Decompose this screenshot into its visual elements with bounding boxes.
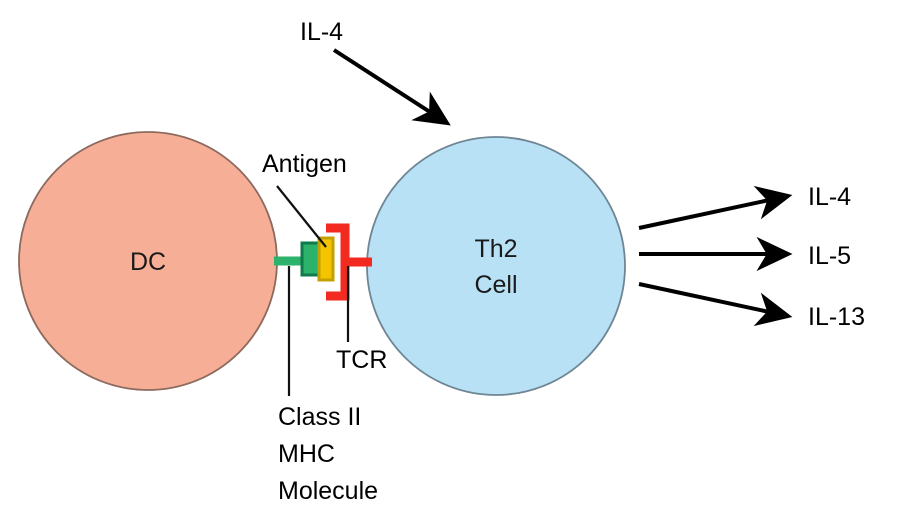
output-il13-label: IL-13 (808, 303, 865, 331)
antigen-leader-line (277, 186, 326, 247)
mhc-label-line1: Class II (278, 403, 361, 431)
diagram-canvas: DC Th2 Cell Antigen TCR Class II MHC Mol… (0, 0, 904, 527)
antigen-label: Antigen (262, 150, 347, 178)
output-il5-label: IL-5 (808, 242, 851, 270)
dc-cell-label: DC (130, 248, 166, 276)
output-il4-arrow (639, 196, 788, 228)
mhc-label-line2: MHC (278, 440, 335, 468)
mhc-label-line3: Molecule (278, 477, 378, 505)
antigen-box[interactable] (319, 238, 333, 280)
th2-cell-label-line2: Cell (474, 271, 517, 299)
output-il13-arrow (639, 284, 788, 316)
th2-cell-body[interactable] (367, 137, 625, 395)
input-il4-arrow (334, 50, 447, 123)
input-il4-label: IL-4 (300, 18, 343, 46)
tcr-label: TCR (336, 346, 387, 374)
th2-cell-label-line1: Th2 (474, 235, 517, 263)
output-il4-label: IL-4 (808, 183, 851, 211)
immunology-diagram: DC Th2 Cell Antigen TCR Class II MHC Mol… (0, 0, 904, 527)
